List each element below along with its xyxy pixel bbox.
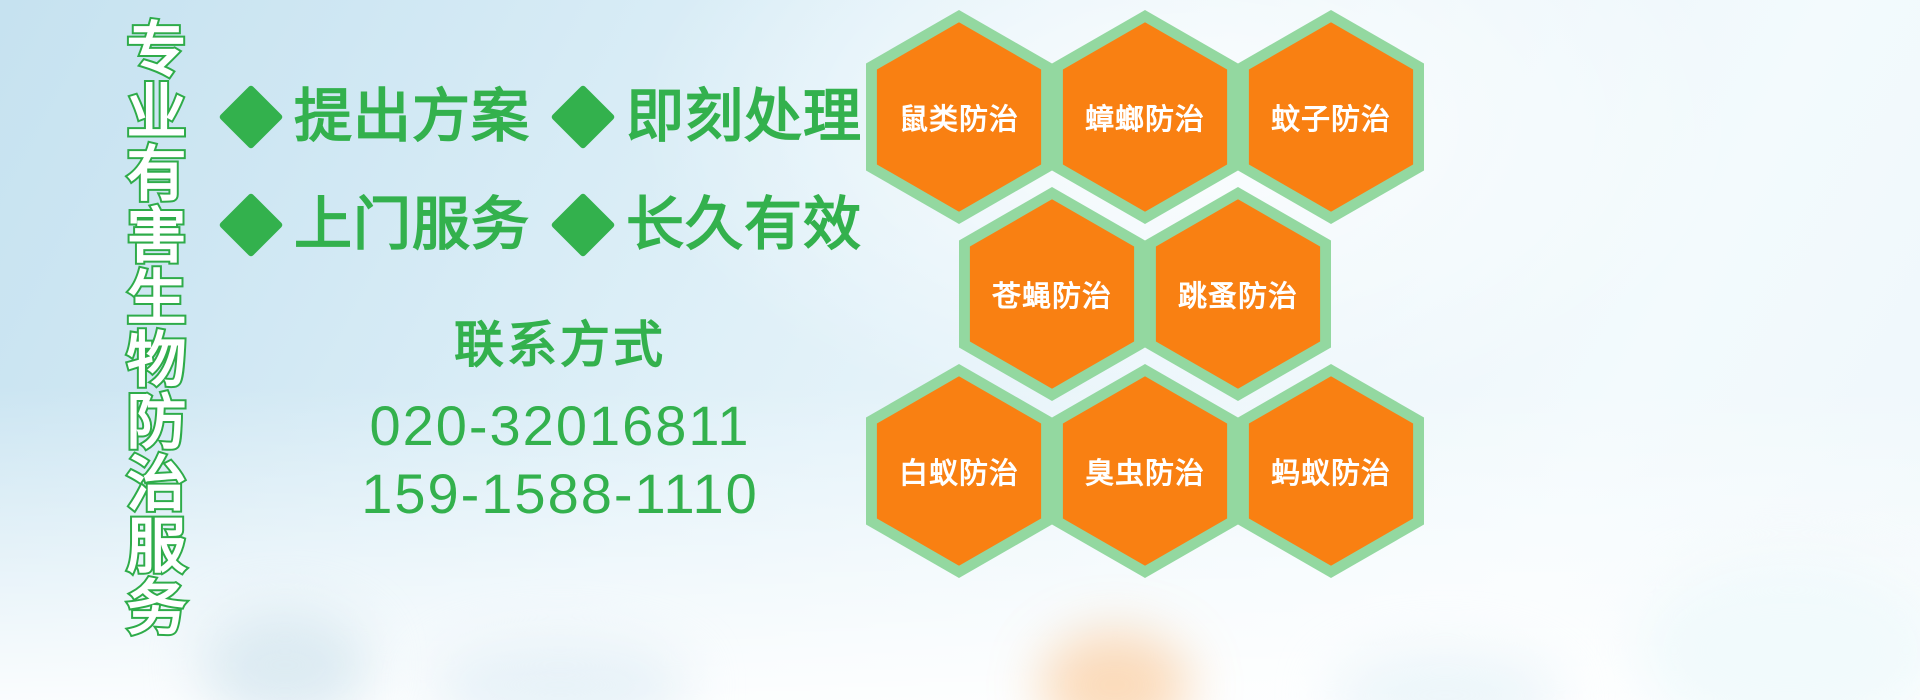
diamond-icon xyxy=(218,192,283,257)
diamond-icon xyxy=(550,192,615,257)
hex-label: 臭虫防治 xyxy=(1052,364,1238,578)
feature-label: 上门服务 xyxy=(294,196,530,254)
pest-control-banner: 专业有害生物防治服务 提出方案 即刻处理 上门服务 长久有效 联系方式 020-… xyxy=(0,0,1920,700)
background-bokeh-2 xyxy=(430,640,690,700)
feature-label: 提出方案 xyxy=(294,88,530,146)
background-bokeh-3 xyxy=(1040,630,1190,700)
phone-mobile[interactable]: 159-1588-1110 xyxy=(300,460,820,528)
hex-cell-ant-control[interactable]: 蚂蚁防治 xyxy=(1238,364,1424,578)
phone-landline[interactable]: 020-32016811 xyxy=(300,392,820,460)
background-bokeh-1 xyxy=(200,610,370,700)
feature-row-bottom: 上门服务 长久有效 xyxy=(228,196,862,254)
feature-row-top: 提出方案 即刻处理 xyxy=(228,88,862,146)
contact-block: 联系方式 020-32016811 159-1588-1110 xyxy=(300,320,820,529)
feature-label: 即刻处理 xyxy=(626,88,862,146)
hex-cell-bedbug-control[interactable]: 臭虫防治 xyxy=(1052,364,1238,578)
hex-label: 蚂蚁防治 xyxy=(1238,364,1424,578)
service-honeycomb: 鼠类防治 蟑螂防治 蚊子防治 苍蝇防治 跳蚤防治 白蚁防治 xyxy=(866,4,1436,568)
feature-item-propose-plan: 提出方案 xyxy=(228,88,530,146)
feature-item-immediate-handling: 即刻处理 xyxy=(560,88,862,146)
background-bokeh-5 xyxy=(1640,560,1920,700)
hex-label: 白蚁防治 xyxy=(866,364,1052,578)
feature-item-door-to-door-service: 上门服务 xyxy=(228,196,530,254)
diamond-icon xyxy=(218,84,283,149)
hex-cell-termite-control[interactable]: 白蚁防治 xyxy=(866,364,1052,578)
feature-item-long-lasting-effect: 长久有效 xyxy=(560,196,862,254)
feature-label: 长久有效 xyxy=(626,196,862,254)
vertical-banner-title: 专业有害生物防治服务 xyxy=(104,18,182,638)
contact-heading: 联系方式 xyxy=(300,320,820,370)
diamond-icon xyxy=(550,84,615,149)
background-bokeh-4 xyxy=(1330,650,1560,700)
